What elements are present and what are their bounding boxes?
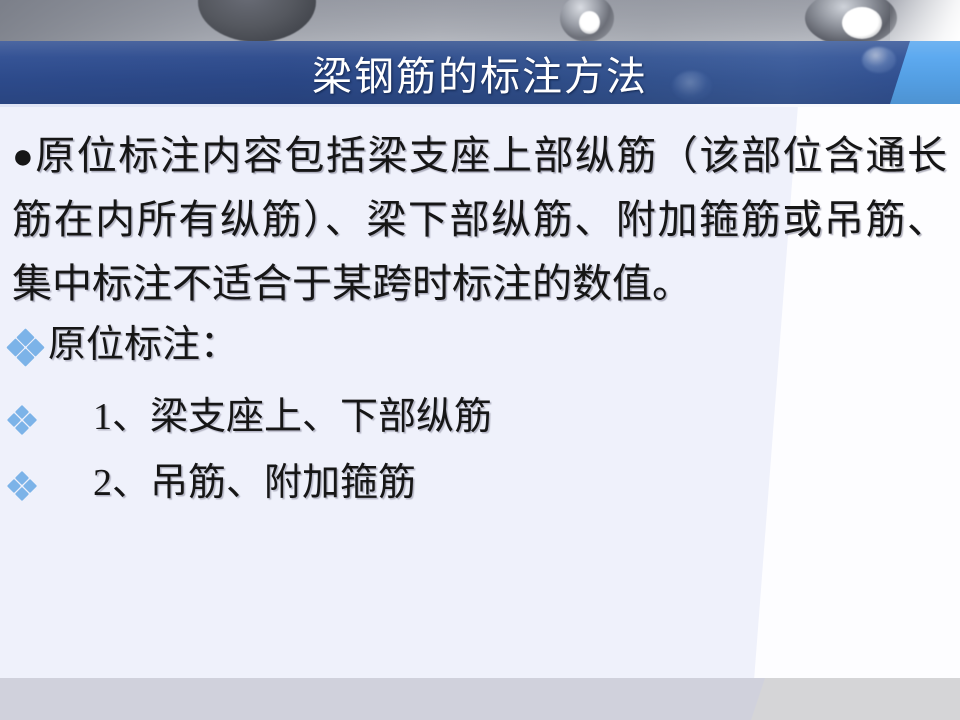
diamond-cluster-icon bbox=[8, 472, 35, 499]
header-photo-band bbox=[0, 0, 960, 44]
bullet-item-label: 1、梁支座上、下部纵筋 bbox=[41, 394, 492, 440]
photo-corner-fade bbox=[890, 0, 960, 44]
slide-title: 梁钢筋的标注方法 bbox=[0, 41, 960, 104]
disc-bullet-icon: ● bbox=[12, 136, 35, 176]
title-banner: 梁钢筋的标注方法 bbox=[0, 41, 960, 104]
bullet-item-label: 原位标注： bbox=[48, 322, 238, 368]
intro-paragraph-text: 原位标注内容包括梁支座上部纵筋（该部位含通长筋在内所有纵筋）、梁下部纵筋、附加箍… bbox=[12, 133, 947, 306]
intro-paragraph: ●原位标注内容包括梁支座上部纵筋（该部位含通长筋在内所有纵筋）、梁下部纵筋、附加… bbox=[12, 124, 947, 316]
bullet-item-1: 1、梁支座上、下部纵筋 bbox=[8, 394, 492, 440]
bullet-item-label: 2、吊筋、附加箍筋 bbox=[41, 460, 416, 506]
diamond-cluster-icon bbox=[8, 330, 42, 364]
presentation-slide: 梁钢筋的标注方法 ●原位标注内容包括梁支座上部纵筋（该部位含通长筋在内所有纵筋）… bbox=[0, 0, 960, 720]
bullet-item-yuanweibiaozhu: 原位标注： bbox=[8, 322, 238, 368]
bullet-item-2: 2、吊筋、附加箍筋 bbox=[8, 460, 416, 506]
diamond-cluster-icon bbox=[8, 406, 35, 433]
slide-body: ●原位标注内容包括梁支座上部纵筋（该部位含通长筋在内所有纵筋）、梁下部纵筋、附加… bbox=[0, 104, 960, 678]
water-droplet-icon bbox=[805, 0, 897, 44]
